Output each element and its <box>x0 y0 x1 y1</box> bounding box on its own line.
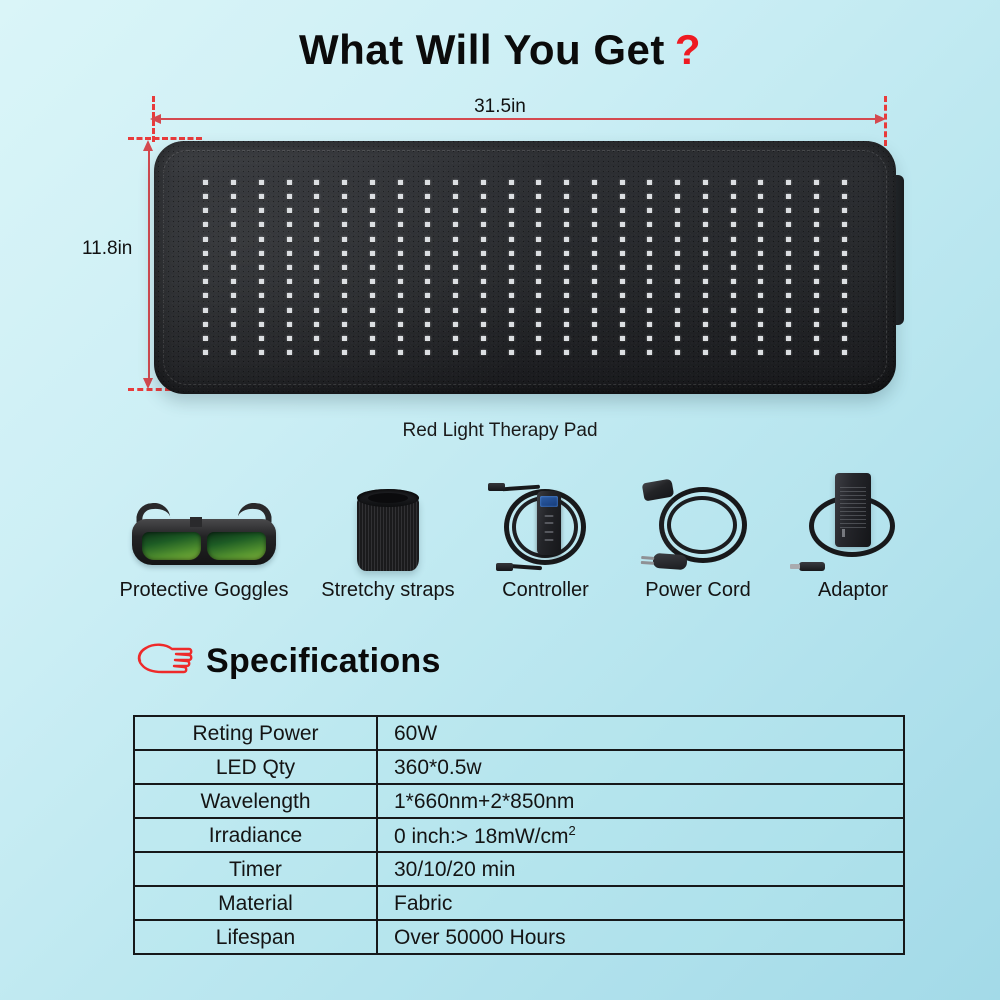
led-dot <box>842 279 847 284</box>
led-dot <box>425 279 430 284</box>
led-dot <box>592 237 597 242</box>
led-dot <box>842 194 847 199</box>
safety-goggles-icon <box>100 467 308 575</box>
accessory-controller: Controller <box>468 467 623 602</box>
led-dot <box>647 265 652 270</box>
led-dot <box>675 194 680 199</box>
led-dot <box>259 350 264 355</box>
led-dot <box>647 293 652 298</box>
led-dot <box>536 322 541 327</box>
led-dot <box>786 180 791 185</box>
led-dot <box>786 237 791 242</box>
led-dot <box>398 322 403 327</box>
led-dot <box>425 208 430 213</box>
height-arrow-head-bottom <box>143 378 153 389</box>
led-dot <box>647 180 652 185</box>
led-dot <box>370 322 375 327</box>
led-dot <box>398 293 403 298</box>
led-dot <box>509 265 514 270</box>
led-dot <box>259 322 264 327</box>
led-dot <box>425 251 430 256</box>
led-dot <box>814 265 819 270</box>
led-dot <box>342 208 347 213</box>
led-dot <box>564 251 569 256</box>
led-dot <box>453 308 458 313</box>
led-dot <box>231 222 236 227</box>
led-dot <box>287 308 292 313</box>
led-dot <box>481 222 486 227</box>
led-dot <box>731 322 736 327</box>
red-light-therapy-pad <box>154 141 896 394</box>
led-dot <box>398 208 403 213</box>
led-dot <box>203 308 208 313</box>
led-dot <box>731 194 736 199</box>
led-dot <box>592 222 597 227</box>
led-dot <box>425 180 430 185</box>
led-dot <box>786 350 791 355</box>
led-dot <box>564 222 569 227</box>
spec-value: Fabric <box>377 886 904 920</box>
led-dot <box>620 350 625 355</box>
led-dot <box>425 322 430 327</box>
led-dot <box>564 279 569 284</box>
led-dot <box>536 293 541 298</box>
height-arrow-line <box>148 146 150 382</box>
led-dot <box>842 180 847 185</box>
led-dot <box>287 293 292 298</box>
led-dot <box>453 222 458 227</box>
led-dot <box>231 180 236 185</box>
led-dot <box>536 208 541 213</box>
led-dot <box>314 293 319 298</box>
led-dot <box>509 222 514 227</box>
led-dot <box>314 237 319 242</box>
led-dot <box>425 237 430 242</box>
led-dot <box>731 208 736 213</box>
led-dot <box>259 251 264 256</box>
led-dot <box>203 350 208 355</box>
led-dot <box>259 336 264 341</box>
led-dot <box>842 293 847 298</box>
led-dot <box>370 237 375 242</box>
led-dot <box>314 222 319 227</box>
led-dot <box>342 322 347 327</box>
led-dot <box>370 293 375 298</box>
led-dot <box>314 251 319 256</box>
inline-controller-icon <box>468 467 623 575</box>
led-dot <box>758 251 763 256</box>
led-dot <box>370 308 375 313</box>
led-dot <box>203 222 208 227</box>
led-dot <box>481 322 486 327</box>
led-dot <box>647 308 652 313</box>
iec-connector <box>642 479 675 502</box>
led-dot <box>370 180 375 185</box>
led-dot <box>453 336 458 341</box>
accessory-straps: Stretchy straps <box>308 467 468 602</box>
specifications-heading: Specifications <box>132 640 441 682</box>
led-dot <box>786 336 791 341</box>
led-dot <box>647 336 652 341</box>
led-dot <box>425 265 430 270</box>
led-dot <box>481 350 486 355</box>
led-dot <box>703 336 708 341</box>
led-dot <box>786 194 791 199</box>
plug-prong-2 <box>641 561 654 565</box>
led-dot <box>814 322 819 327</box>
led-dot <box>203 336 208 341</box>
led-dot <box>536 237 541 242</box>
led-dot <box>564 308 569 313</box>
led-dot <box>675 265 680 270</box>
controller-button-3[interactable] <box>544 531 553 533</box>
led-dot <box>731 251 736 256</box>
led-dot <box>536 350 541 355</box>
led-dot <box>398 194 403 199</box>
led-dot <box>425 350 430 355</box>
pad-led-grid <box>192 175 858 360</box>
led-dot <box>453 194 458 199</box>
led-dot <box>842 308 847 313</box>
led-dot <box>425 308 430 313</box>
accessory-goggles: Protective Goggles <box>100 467 308 602</box>
led-dot <box>675 251 680 256</box>
led-dot <box>509 251 514 256</box>
led-dot <box>231 308 236 313</box>
spec-key: Wavelength <box>134 784 377 818</box>
led-dot <box>481 251 486 256</box>
power-cord-graphic <box>639 479 757 573</box>
led-dot <box>703 350 708 355</box>
led-dot <box>287 265 292 270</box>
led-dot <box>453 279 458 284</box>
led-dot <box>731 293 736 298</box>
led-dot <box>231 194 236 199</box>
led-dot <box>398 279 403 284</box>
led-dot <box>314 265 319 270</box>
led-dot <box>731 237 736 242</box>
led-dot <box>509 322 514 327</box>
led-dot <box>786 265 791 270</box>
led-dot <box>453 322 458 327</box>
led-dot <box>287 208 292 213</box>
led-dot <box>342 293 347 298</box>
spec-value: 360*0.5w <box>377 750 904 784</box>
led-dot <box>370 251 375 256</box>
led-dot <box>231 293 236 298</box>
led-dot <box>370 336 375 341</box>
controller-display <box>540 496 558 507</box>
led-dot <box>203 293 208 298</box>
led-dot <box>425 293 430 298</box>
led-dot <box>425 336 430 341</box>
led-dot <box>592 350 597 355</box>
led-dot <box>758 265 763 270</box>
led-dot <box>314 336 319 341</box>
adaptor-brick <box>835 473 871 547</box>
accessory-power-cord: Power Cord <box>623 467 773 602</box>
led-dot <box>342 336 347 341</box>
led-dot <box>647 194 652 199</box>
led-dot <box>592 336 597 341</box>
led-dot <box>203 208 208 213</box>
led-dot <box>453 293 458 298</box>
led-dot <box>342 194 347 199</box>
led-dot <box>398 336 403 341</box>
spec-value: 30/10/20 min <box>377 852 904 886</box>
led-dot <box>814 237 819 242</box>
specifications-table: Reting Power60WLED Qty360*0.5wWavelength… <box>133 715 905 955</box>
led-dot <box>814 194 819 199</box>
table-row: Reting Power60W <box>134 716 904 750</box>
led-dot <box>287 180 292 185</box>
led-dot <box>231 322 236 327</box>
power-cord-icon <box>623 467 773 575</box>
led-dot <box>814 279 819 284</box>
led-dot <box>287 251 292 256</box>
spec-value: 1*660nm+2*850nm <box>377 784 904 818</box>
led-dot <box>481 194 486 199</box>
led-dot <box>620 251 625 256</box>
led-dot <box>814 180 819 185</box>
led-dot <box>314 279 319 284</box>
controller-button-1[interactable] <box>544 515 553 517</box>
height-arrow-head-top <box>143 140 153 151</box>
led-dot <box>287 279 292 284</box>
controller-body[interactable] <box>537 491 561 555</box>
led-dot <box>259 265 264 270</box>
led-dot <box>814 222 819 227</box>
led-dot <box>758 308 763 313</box>
table-row: MaterialFabric <box>134 886 904 920</box>
led-dot <box>758 350 763 355</box>
accessories-row: Protective Goggles Stretchy straps <box>100 452 940 602</box>
table-row: Timer30/10/20 min <box>134 852 904 886</box>
led-dot <box>259 293 264 298</box>
led-dot <box>536 222 541 227</box>
led-dot <box>758 336 763 341</box>
adaptor-label-text <box>840 487 866 531</box>
led-dot <box>592 308 597 313</box>
led-dot <box>842 322 847 327</box>
led-dot <box>842 265 847 270</box>
led-dot <box>370 194 375 199</box>
led-dot <box>731 265 736 270</box>
spec-value: 0 inch:> 18mW/cm2 <box>377 818 904 852</box>
led-dot <box>259 308 264 313</box>
led-dot <box>786 293 791 298</box>
led-dot <box>398 350 403 355</box>
controller-button-2[interactable] <box>544 522 553 524</box>
led-dot <box>647 208 652 213</box>
spec-value-superscript: 2 <box>568 823 575 838</box>
led-dot <box>675 322 680 327</box>
spec-key: Timer <box>134 852 377 886</box>
led-dot <box>203 279 208 284</box>
led-dot <box>592 322 597 327</box>
goggles-lens-right <box>207 532 266 560</box>
led-dot <box>509 180 514 185</box>
table-row: LifespanOver 50000 Hours <box>134 920 904 954</box>
led-dot <box>259 194 264 199</box>
guide-dash-top-horizontal <box>128 137 202 140</box>
height-dimension-label: 11.8in <box>82 238 132 260</box>
led-dot <box>620 293 625 298</box>
led-dot <box>453 350 458 355</box>
led-dot <box>536 308 541 313</box>
led-dot <box>703 279 708 284</box>
led-dot <box>592 279 597 284</box>
strap-roll-graphic <box>357 489 419 571</box>
led-dot <box>814 251 819 256</box>
led-dot <box>703 237 708 242</box>
led-dot <box>675 180 680 185</box>
led-dot <box>675 279 680 284</box>
led-dot <box>842 350 847 355</box>
led-dot <box>786 208 791 213</box>
led-dot <box>675 293 680 298</box>
led-dot <box>564 237 569 242</box>
wall-plug <box>653 553 688 570</box>
led-dot <box>509 336 514 341</box>
led-dot <box>758 208 763 213</box>
led-dot <box>370 279 375 284</box>
led-dot <box>231 279 236 284</box>
led-dot <box>675 222 680 227</box>
led-dot <box>620 336 625 341</box>
led-dot <box>842 208 847 213</box>
led-dot <box>398 237 403 242</box>
accessory-adaptor: Adaptor <box>773 467 933 602</box>
led-dot <box>731 336 736 341</box>
led-dot <box>481 208 486 213</box>
led-dot <box>703 322 708 327</box>
led-dot <box>481 265 486 270</box>
led-dot <box>703 222 708 227</box>
led-dot <box>786 308 791 313</box>
led-dot <box>703 208 708 213</box>
controller-graphic <box>488 477 604 573</box>
goggles-graphic <box>124 503 284 567</box>
led-dot <box>592 265 597 270</box>
led-dot <box>203 194 208 199</box>
led-dot <box>620 222 625 227</box>
led-dot <box>786 222 791 227</box>
led-dot <box>703 308 708 313</box>
pad-fabric-body <box>154 141 896 394</box>
led-dot <box>842 237 847 242</box>
led-dot <box>731 180 736 185</box>
led-dot <box>758 194 763 199</box>
led-dot <box>259 180 264 185</box>
spec-key: Irradiance <box>134 818 377 852</box>
led-dot <box>231 237 236 242</box>
led-dot <box>287 336 292 341</box>
table-row: Wavelength1*660nm+2*850nm <box>134 784 904 818</box>
led-dot <box>564 265 569 270</box>
strap-roll-body <box>357 497 419 571</box>
led-dot <box>231 336 236 341</box>
led-dot <box>592 194 597 199</box>
led-dot <box>203 251 208 256</box>
goggles-bridge <box>190 517 202 527</box>
led-dot <box>814 208 819 213</box>
led-dot <box>453 237 458 242</box>
adaptor-graphic <box>793 469 913 575</box>
led-dot <box>564 322 569 327</box>
led-dot <box>564 208 569 213</box>
led-dot <box>620 208 625 213</box>
led-dot <box>509 194 514 199</box>
led-dot <box>647 322 652 327</box>
led-dot <box>703 180 708 185</box>
led-dot <box>259 222 264 227</box>
led-dot <box>564 180 569 185</box>
led-dot <box>481 336 486 341</box>
led-dot <box>592 293 597 298</box>
led-dot <box>620 237 625 242</box>
led-dot <box>620 180 625 185</box>
led-dot <box>509 208 514 213</box>
led-dot <box>342 308 347 313</box>
adaptor-certification-marks <box>842 529 862 537</box>
led-dot <box>287 194 292 199</box>
led-dot <box>647 222 652 227</box>
led-dot <box>481 293 486 298</box>
dc-barrel-connector <box>799 562 825 571</box>
led-dot <box>453 265 458 270</box>
led-dot <box>814 350 819 355</box>
led-dot <box>842 336 847 341</box>
led-dot <box>342 350 347 355</box>
spec-key: LED Qty <box>134 750 377 784</box>
led-dot <box>287 322 292 327</box>
led-dot <box>703 265 708 270</box>
led-dot <box>481 308 486 313</box>
led-dot <box>620 308 625 313</box>
led-dot <box>370 222 375 227</box>
led-dot <box>731 308 736 313</box>
goggles-frame <box>132 519 276 565</box>
led-dot <box>370 350 375 355</box>
led-dot <box>453 251 458 256</box>
led-dot <box>564 293 569 298</box>
led-dot <box>703 251 708 256</box>
accessory-label-power-cord: Power Cord <box>623 579 773 602</box>
led-dot <box>731 350 736 355</box>
led-dot <box>536 194 541 199</box>
led-dot <box>675 237 680 242</box>
controller-button-4[interactable] <box>544 539 553 541</box>
led-dot <box>231 350 236 355</box>
led-dot <box>592 208 597 213</box>
dc-connector-tip <box>790 564 800 569</box>
led-dot <box>647 237 652 242</box>
led-dot <box>536 265 541 270</box>
spec-key: Material <box>134 886 377 920</box>
led-dot <box>509 279 514 284</box>
table-row: Irradiance0 inch:> 18mW/cm2 <box>134 818 904 852</box>
led-dot <box>786 279 791 284</box>
led-dot <box>536 251 541 256</box>
goggles-lens-left <box>142 532 201 560</box>
led-dot <box>398 308 403 313</box>
led-dot <box>592 251 597 256</box>
power-adaptor-icon <box>773 467 933 575</box>
width-dimension-label: 31.5in <box>0 96 1000 118</box>
spec-value: 60W <box>377 716 904 750</box>
led-dot <box>287 350 292 355</box>
